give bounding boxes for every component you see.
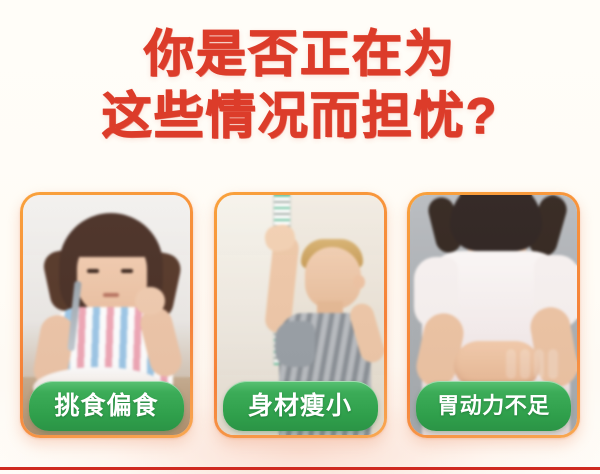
fringe: [71, 221, 153, 257]
symptom-card-weak-stomach[interactable]: 胃动力不足: [407, 192, 580, 438]
card-label-band: 身材瘦小: [223, 381, 378, 431]
head: [305, 247, 361, 309]
finger: [520, 349, 530, 379]
page-title: 你是否正在为 这些情况而担忧?: [0, 24, 600, 146]
card-label-text: 身材瘦小: [248, 394, 352, 419]
eye-left: [87, 269, 99, 273]
symptom-card-list: 挑食偏食: [20, 192, 580, 440]
card-label-band: 挑食偏食: [29, 381, 184, 431]
hair: [450, 195, 542, 251]
headline-line-2: 这些情况而担忧?: [0, 86, 600, 146]
ear: [353, 275, 365, 289]
hand-on-cheek: [135, 287, 165, 315]
mouth: [103, 293, 119, 297]
finger: [534, 349, 544, 379]
card-label-band: 胃动力不足: [416, 381, 571, 431]
card-label-text: 挑食偏食: [54, 394, 158, 419]
bottom-divider: [0, 467, 600, 470]
finger: [506, 349, 516, 379]
sleeve: [275, 321, 315, 367]
finger: [548, 349, 558, 379]
card-inner: 胃动力不足: [410, 195, 577, 435]
eye-right: [121, 269, 133, 273]
symptom-card-short-stature[interactable]: 身材瘦小: [214, 192, 387, 438]
promo-poster: 你是否正在为 这些情况而担忧?: [0, 0, 600, 474]
headline-line-1: 你是否正在为: [0, 24, 600, 84]
card-inner: 挑食偏食: [23, 195, 190, 435]
symptom-card-picky-eating[interactable]: 挑食偏食: [20, 192, 193, 438]
card-label-text: 胃动力不足: [437, 395, 550, 417]
card-inner: 身材瘦小: [217, 195, 384, 435]
